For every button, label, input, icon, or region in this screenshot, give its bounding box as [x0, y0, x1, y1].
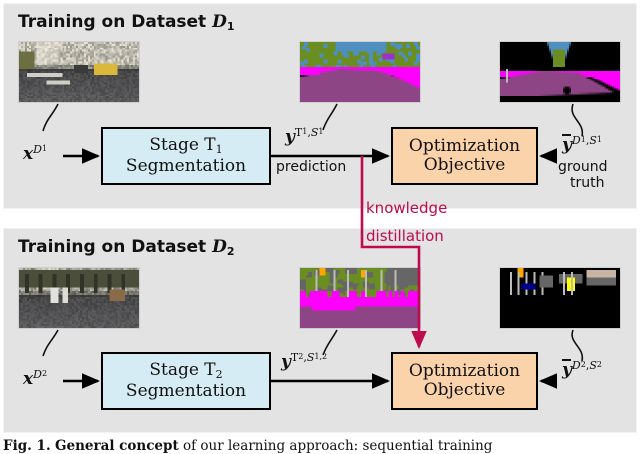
groundtruth-label-top-sup2-sub: 1 — [597, 135, 602, 144]
prediction-label-bottom-symbol: y — [281, 352, 291, 372]
groundtruth-label-bottom-sup2-sub: 2 — [597, 360, 602, 369]
prediction-label-bottom-sup-cal-sub: 1,2 — [314, 352, 327, 361]
groundtruth-label-bottom-sup1: D — [572, 359, 581, 372]
prediction-segmentation-top — [299, 41, 421, 103]
optimization-objective-box-top[interactable]: Optimization Objective — [391, 127, 538, 185]
panel-title-bottom: Training on Dataset D2 — [18, 237, 235, 258]
input-label-bottom-symbol: x — [23, 369, 33, 389]
input-photo-top — [18, 41, 140, 103]
optimization-box-top-line2: Objective — [424, 156, 506, 175]
input-label-bottom-sup: D — [33, 368, 42, 381]
groundtruth-text-top-line2: truth — [570, 176, 604, 191]
groundtruth-label-top-sup1: D — [572, 134, 581, 147]
prediction-label-bottom: yT2,S1,2 — [281, 351, 327, 372]
stage-box-top-line2: Segmentation — [126, 157, 246, 176]
input-label-top-sup-sub: 1 — [42, 144, 47, 153]
panel-training-dataset-2: Training on Dataset D2 — [3, 228, 637, 433]
input-label-top: xD1 — [23, 143, 47, 164]
input-label-bottom-sup-sub: 2 — [42, 369, 47, 378]
prediction-label-top-sup-cal-sub: 1 — [318, 127, 323, 136]
groundtruth-label-top-sup1-sub: 1 — [581, 135, 586, 144]
stage-box-bottom-line1: Stage T — [149, 360, 215, 380]
optimization-box-bottom-line2: Objective — [424, 381, 506, 400]
knowledge-distillation-label-line2: distillation — [366, 228, 444, 246]
optimization-box-top-line1: Optimization — [409, 137, 520, 156]
panel-title-top-symbol: D — [212, 12, 227, 32]
groundtruth-label-bottom-sup1-sub: 2 — [581, 360, 586, 369]
prediction-label-top-symbol: y — [285, 127, 295, 147]
panel-title-bottom-symbol: D — [212, 237, 227, 257]
optimization-objective-box-bottom[interactable]: Optimization Objective — [391, 352, 538, 410]
stage-box-bottom-subscript: 2 — [216, 368, 223, 381]
groundtruth-text-top-line1: ground — [558, 160, 608, 175]
panel-title-top: Training on Dataset D1 — [18, 12, 235, 33]
prediction-edge-label-top: prediction — [276, 160, 346, 175]
stage-segmentation-box-bottom[interactable]: Stage T2 Segmentation — [101, 352, 271, 410]
input-label-top-symbol: x — [23, 144, 33, 164]
stage-segmentation-box-top[interactable]: Stage T1 Segmentation — [101, 127, 271, 185]
groundtruth-label-bottom-symbol: y — [562, 360, 572, 380]
groundtruth-label-top-sup2: S — [589, 134, 597, 147]
prediction-label-top-sup-sub: 1 — [302, 127, 307, 136]
figure-canvas: Training on Dataset D1 Training on Datas… — [0, 0, 640, 454]
stage-box-top-subscript: 1 — [216, 143, 223, 156]
figure-caption: Fig. 1. General concept of our learning … — [3, 438, 637, 454]
panel-title-bottom-subscript: 2 — [227, 245, 235, 258]
groundtruth-segmentation-top — [499, 41, 621, 103]
caption-rest: of our learning approach: sequential tra… — [179, 438, 493, 454]
groundtruth-label-bottom: yD2,S2 — [562, 359, 602, 380]
caption-prefix: Fig. 1. — [3, 438, 51, 454]
stage-box-bottom-line2: Segmentation — [126, 382, 246, 401]
groundtruth-label-bottom-sup2: S — [589, 359, 597, 372]
optimization-box-bottom-line1: Optimization — [409, 362, 520, 381]
prediction-label-bottom-sup-sub: 2 — [298, 352, 303, 361]
groundtruth-label-top-symbol: y — [562, 135, 572, 155]
knowledge-distillation-label-line1: knowledge — [366, 200, 447, 218]
input-label-bottom: xD2 — [23, 368, 47, 389]
caption-bold: General concept — [55, 438, 179, 454]
stage-box-top-line1: Stage T — [149, 135, 215, 155]
panel-training-dataset-1: Training on Dataset D1 — [3, 3, 637, 209]
groundtruth-segmentation-bottom — [499, 267, 621, 329]
prediction-segmentation-bottom — [299, 267, 421, 329]
groundtruth-label-top: yD1,S1 — [562, 134, 602, 155]
panel-title-bottom-text: Training on Dataset — [18, 237, 212, 257]
prediction-label-top: yT1,S1 — [285, 126, 323, 147]
input-photo-bottom — [18, 267, 140, 329]
panel-title-top-subscript: 1 — [227, 20, 235, 33]
panel-title-top-text: Training on Dataset — [18, 12, 212, 32]
input-label-top-sup: D — [33, 143, 42, 156]
